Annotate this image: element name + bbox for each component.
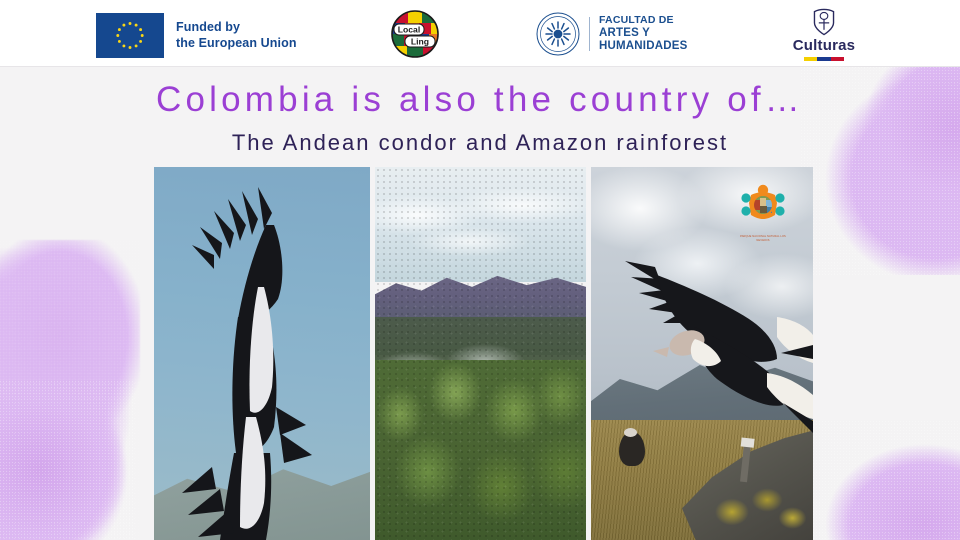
- eu-stars-icon: [96, 13, 164, 58]
- colombia-coat-of-arms-icon: [811, 8, 837, 36]
- decorative-blob-left: [0, 240, 140, 540]
- eu-flag-icon: [96, 13, 164, 58]
- eu-funding-line-1: Funded by: [176, 20, 297, 36]
- foliage-texture: [375, 167, 586, 540]
- logo-header-bar: Funded by the European Union: [0, 0, 960, 67]
- facultad-line-1: FACULTAD DE: [599, 14, 687, 26]
- condor-silhouette-icon: [154, 167, 370, 540]
- decorative-blob-right-bottom: [800, 420, 960, 540]
- photo-strip: PARQUE NACIONAL NATURAL LOS NEVADOS: [154, 167, 813, 540]
- photo-amazon-rainforest-canopy: [375, 167, 586, 540]
- local-ling-word-top: Local: [398, 25, 420, 35]
- culturas-label: Culturas: [779, 37, 869, 54]
- page-title: Colombia is also the country of…: [0, 80, 960, 120]
- facultad-line-3: HUMANIDADES: [599, 40, 687, 54]
- page-subtitle: The Andean condor and Amazon rainforest: [0, 130, 960, 156]
- eu-funding-logo: Funded by the European Union: [96, 13, 297, 58]
- park-badge-logo: PARQUE NACIONAL NATURAL LOS NEVADOS: [737, 181, 789, 241]
- photo-andean-condor-in-flight: [154, 167, 370, 540]
- universidad-seal-icon: [536, 12, 580, 56]
- facultad-label: FACULTAD DE ARTES Y HUMANIDADES: [599, 14, 687, 54]
- park-emblem-icon: [737, 181, 789, 229]
- blob-grain: [800, 420, 960, 540]
- decorative-blob-left-lower: [0, 380, 135, 540]
- blob-grain: [0, 240, 140, 540]
- logo-divider: [589, 17, 590, 51]
- park-badge-caption: PARQUE NACIONAL NATURAL LOS NEVADOS: [737, 235, 789, 243]
- local-ling-word-bottom: Ling: [411, 37, 429, 47]
- colombia-flag-bar-icon: [804, 57, 844, 61]
- eu-funding-line-2: the European Union: [176, 36, 297, 52]
- eu-funding-label: Funded by the European Union: [176, 20, 297, 51]
- local-ling-globe-icon: Local Ling: [382, 9, 448, 59]
- culturas-logo: Culturas: [779, 8, 869, 61]
- slide: Funded by the European Union: [0, 0, 960, 540]
- blob-grain: [0, 380, 135, 540]
- local-ling-logo: Local Ling: [382, 9, 448, 59]
- universidad-de-caldas-logo: FACULTAD DE ARTES Y HUMANIDADES: [536, 12, 687, 56]
- facultad-line-2: ARTES Y: [599, 27, 687, 41]
- photo-andean-condor-taking-off: PARQUE NACIONAL NATURAL LOS NEVADOS: [591, 167, 813, 540]
